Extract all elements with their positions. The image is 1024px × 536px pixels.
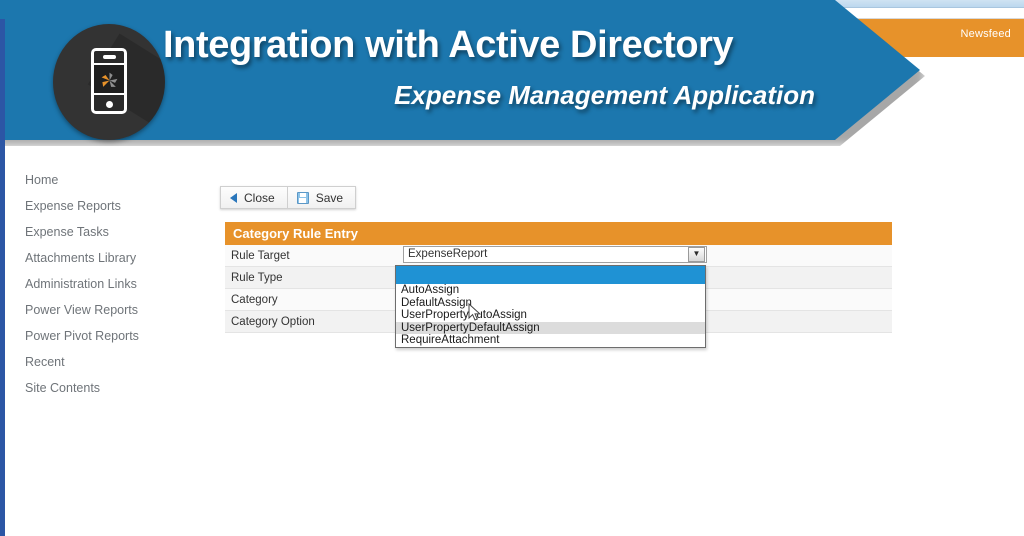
save-button-label: Save: [316, 191, 343, 205]
dropdown-option-autoassign[interactable]: AutoAssign: [396, 284, 705, 297]
close-button[interactable]: Close: [220, 186, 288, 209]
sidebar-item-attachments-library[interactable]: Attachments Library: [5, 245, 215, 271]
window-border-left: [0, 19, 5, 536]
label-rule-type: Rule Type: [225, 272, 403, 284]
dropdown-option-userpropertyautoassign[interactable]: UserPropertyAutoAssign: [396, 309, 705, 322]
banner-title: Integration with Active Directory: [163, 22, 873, 68]
chevron-down-icon[interactable]: ▼: [688, 247, 705, 262]
sidebar-item-expense-reports[interactable]: Expense Reports: [5, 193, 215, 219]
form-title: Category Rule Entry: [225, 222, 892, 245]
sidebar-item-power-view-reports[interactable]: Power View Reports: [5, 297, 215, 323]
pinwheel-icon: [100, 71, 119, 90]
dropdown-option-defaultassign[interactable]: DefaultAssign: [396, 297, 705, 310]
label-category: Category: [225, 294, 403, 306]
rule-type-dropdown-list[interactable]: AutoAssign DefaultAssign UserPropertyAut…: [395, 265, 706, 348]
page-banner: Integration with Active Directory Expens…: [0, 0, 930, 140]
sidebar-nav: Home Expense Reports Expense Tasks Attac…: [5, 159, 215, 401]
rule-target-select[interactable]: ExpenseReport ▼: [403, 246, 707, 263]
save-button[interactable]: Save: [288, 186, 356, 209]
label-rule-target: Rule Target: [225, 250, 403, 262]
sidebar-item-administration-links[interactable]: Administration Links: [5, 271, 215, 297]
phone-speaker-icon: [103, 55, 116, 59]
dropdown-option-userpropertydefaultassign[interactable]: UserPropertyDefaultAssign: [396, 322, 705, 335]
rule-target-value: ExpenseReport: [404, 248, 688, 260]
newsfeed-link[interactable]: Newsfeed: [960, 28, 1011, 40]
screen-root: Expense Report File Edit View Favorites …: [0, 0, 1024, 536]
sidebar-item-expense-tasks[interactable]: Expense Tasks: [5, 219, 215, 245]
sidebar-item-site-contents[interactable]: Site Contents: [5, 375, 215, 401]
sidebar-item-recent[interactable]: Recent: [5, 349, 215, 375]
floppy-disk-icon: [297, 192, 309, 204]
form-toolbar: Close Save: [220, 186, 356, 209]
app-logo: [53, 24, 165, 140]
sidebar-item-power-pivot-reports[interactable]: Power Pivot Reports: [5, 323, 215, 349]
close-button-label: Close: [244, 191, 275, 205]
phone-home-button-icon: [106, 101, 113, 108]
phone-screen: [94, 63, 124, 95]
dropdown-option-blank[interactable]: [396, 266, 705, 284]
back-arrow-icon: [230, 193, 237, 203]
mobile-phone-icon: [91, 48, 127, 114]
field-rule-target: ExpenseReport ▼: [403, 245, 892, 267]
banner-subtitle: Expense Management Application: [163, 78, 873, 112]
dropdown-option-requireattachment[interactable]: RequireAttachment: [396, 334, 705, 347]
form-row-rule-target: Rule Target ExpenseReport ▼: [225, 245, 892, 267]
sidebar-item-home[interactable]: Home: [5, 167, 215, 193]
label-category-option: Category Option: [225, 316, 403, 328]
